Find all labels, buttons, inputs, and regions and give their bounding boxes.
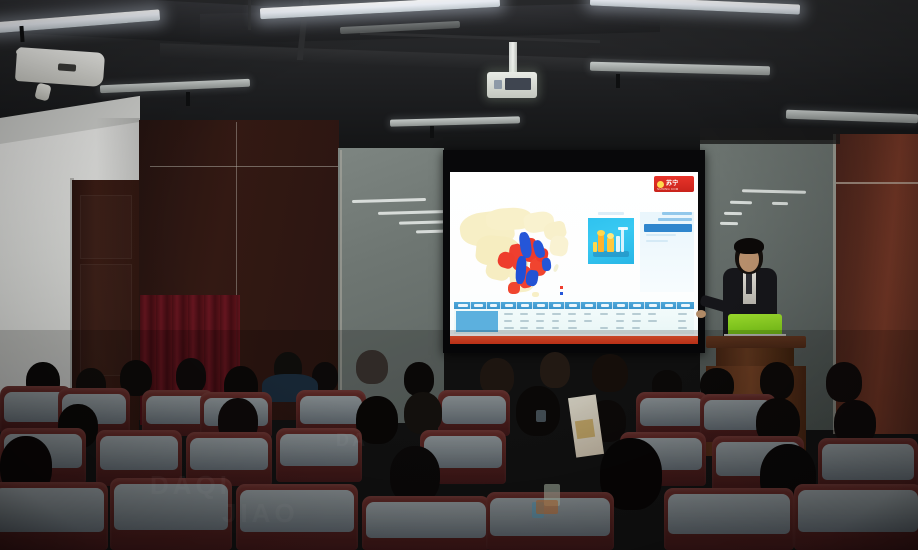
illustration-figure [598,234,604,252]
security-camera-lens [58,63,76,71]
table-header-cell [521,304,529,307]
map-province-highlighted [541,258,551,272]
table-header-cell [617,304,625,307]
presenter-hand [696,310,706,318]
table-cell [648,313,656,315]
table-col-divider [596,302,597,309]
text-line-faint [646,240,668,242]
door-panel [80,195,132,259]
illustration-figure [607,238,614,252]
table-cell [568,320,576,322]
presenter-hair [734,238,764,254]
table-header-cell [505,304,513,307]
map-legend-swatch [560,286,563,289]
table-col-divider [470,302,471,309]
table-cell [648,320,657,322]
table-cell [504,327,514,329]
table-cell [600,313,608,315]
bag[interactable] [536,500,558,514]
seat-cushion[interactable] [822,444,914,480]
audience-head [592,354,628,392]
table-cell [584,313,591,315]
table-cell [520,327,528,329]
seat-branding-text: DA [336,430,368,451]
table-cell [568,327,577,329]
table-cell [616,320,624,322]
seat-cushion[interactable] [366,502,486,538]
table-col-divider [486,302,487,309]
map-province [549,235,570,257]
illustration-figure [593,242,597,252]
table-col-divider [532,302,533,309]
map-legend-swatch [560,292,563,295]
light-stem [186,92,190,106]
audience-head [540,352,570,388]
seat-cushion[interactable] [100,436,178,470]
wall-trim [836,182,918,184]
text-line [658,218,692,221]
table-header-cell [553,304,561,307]
photo-scene: 苏宁 SUNING COM [0,0,918,550]
table-cell [568,313,576,315]
table-cell [504,313,513,315]
audience-head [176,358,206,394]
table-cell [504,320,512,322]
table-col-divider [500,302,501,309]
audience-head [404,362,434,396]
handout-graphic [575,419,595,439]
illustration-figure [597,230,605,236]
table-cell [552,327,559,329]
table-header-cell [681,304,690,307]
illustration-figure [616,236,620,252]
table-cell [632,327,640,329]
map-province-highlighted [525,269,539,287]
audience-head [404,392,442,434]
text-line-faint [598,212,624,215]
text-highlight-bar [644,224,692,232]
wall-top-shadow [700,128,840,144]
table-header-cell [601,304,609,307]
map-island [532,292,539,297]
table-cell [552,313,561,315]
table-cell [536,313,545,315]
light-stem [430,126,434,138]
ceiling-pipe [248,0,251,30]
china-map [458,206,580,300]
seat-cushion[interactable] [640,398,704,426]
podium-top [706,336,806,348]
text-line [662,212,692,215]
brand-logo: 苏宁 SUNING COM [654,176,694,192]
illustration-figure [607,233,614,239]
seat-cushion[interactable] [798,490,918,532]
wall-stripe [724,212,742,215]
table-label-cell [456,311,498,332]
table-cell [520,313,528,315]
seat-cushion[interactable] [300,396,362,424]
cup[interactable] [536,410,546,422]
table-header-cell [649,304,657,307]
laptop-lid[interactable] [728,314,782,336]
table-cell [616,313,625,315]
table-cell [616,327,624,329]
table-cell [520,320,529,322]
panel-trim [340,150,342,422]
table-col-divider [628,302,629,309]
table-cell [536,327,544,329]
wall-trim [150,166,340,167]
presenter-tie [746,272,752,294]
table-header-cell [474,304,483,307]
wall-stripe [730,201,752,205]
audience-head [356,350,388,384]
table-col-divider [644,302,645,309]
projection-screen: 苏宁 SUNING COM [450,172,698,344]
wall-stripe [772,202,788,205]
seat-cushion[interactable] [668,494,790,534]
table-header-cell [490,304,497,307]
table-col-divider [516,302,517,309]
light-stem [616,74,620,88]
table-cell [584,320,592,322]
table-col-divider [660,302,661,309]
audience-head [826,362,862,402]
table-col-divider [676,302,677,309]
logo-subtext: SUNING COM [657,187,679,191]
projector-lens [494,80,502,89]
map-island [553,264,560,273]
projector-pole [509,42,517,76]
table-col-divider [580,302,581,309]
table-cell [632,313,641,315]
table-header-cell [569,304,577,307]
door-panel [80,264,132,376]
table-header-cell [633,304,641,307]
table-header-cell [585,304,593,307]
table-col-divider [612,302,613,309]
presentation-slide: 苏宁 SUNING COM [450,172,698,344]
illustration-pole [621,228,624,252]
table-cell [678,320,686,322]
seat-branding-text: DAQI [150,470,231,501]
table-cell [678,327,687,329]
table-cell [552,320,559,322]
illustration-pole-arm [618,227,628,230]
table-col-divider [548,302,549,309]
projector-lens-housing [505,78,531,90]
slide-illustration [588,218,634,264]
table-cell [536,320,544,322]
wall-stripe [720,222,738,225]
slide-bottom-bar [450,336,698,344]
text-line-faint [646,234,676,236]
slide-data-table [454,302,694,334]
table-cell [600,327,608,329]
table-cell [632,320,641,322]
seat-cushion[interactable] [442,396,506,424]
table-header-cell [537,304,545,307]
table-header-cell [665,304,673,307]
table-cell [678,313,687,315]
table-header-cell [458,304,468,307]
table-col-divider [564,302,565,309]
seat-branding-text: JIAO [222,498,299,529]
seat-cushion[interactable] [190,438,268,470]
seat-cushion[interactable] [0,488,104,532]
